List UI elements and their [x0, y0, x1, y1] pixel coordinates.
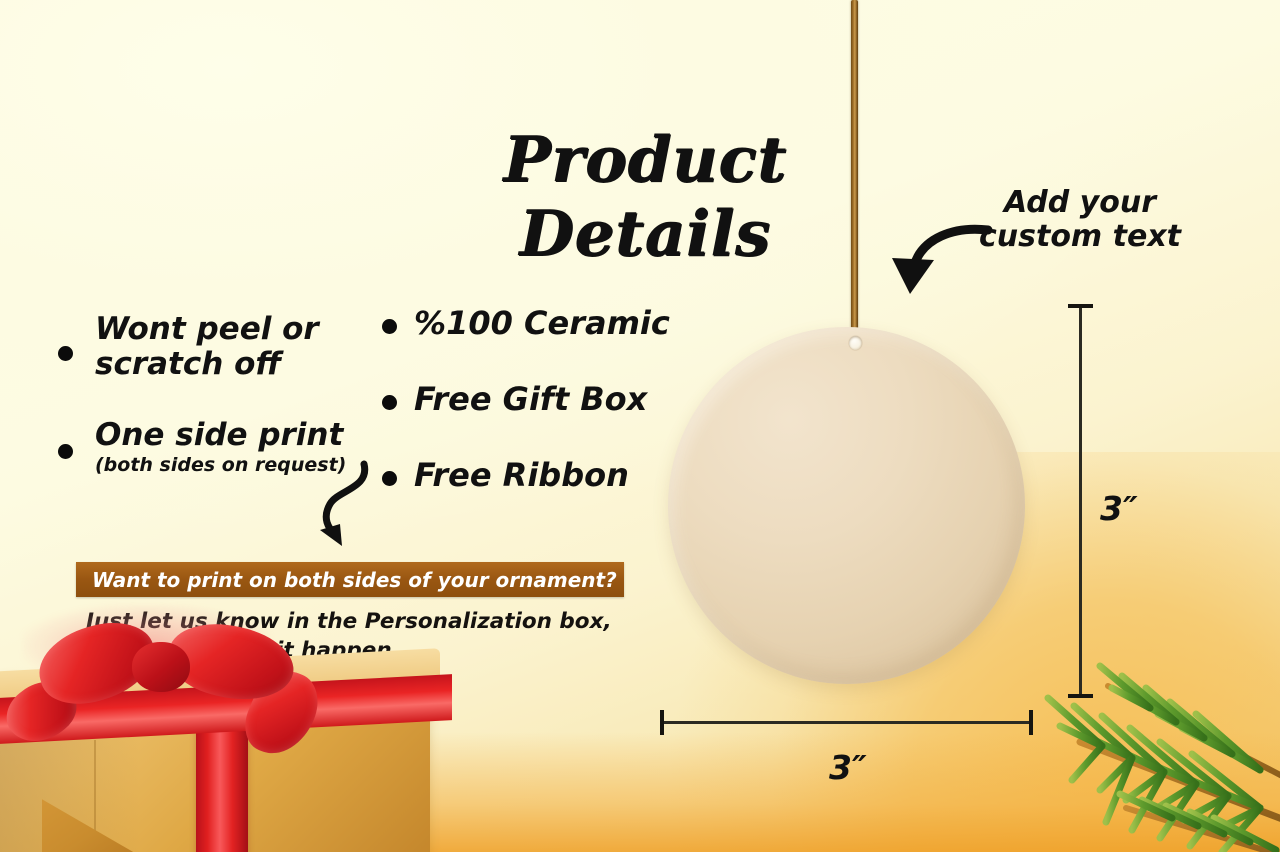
feature-item-right-1: %100 Ceramic	[382, 306, 670, 342]
banner-label: Want to print on both sides of your orna…	[76, 568, 617, 592]
feature-item-right-2: Free Gift Box	[382, 382, 647, 418]
banner-body-text: Just let us know in the Personalization …	[86, 608, 646, 665]
bullet-dot-icon	[382, 319, 397, 334]
ornament-cord	[851, 0, 858, 350]
gift-box-shading	[0, 680, 140, 852]
product-details-graphic: Product Details Wont peel or scratch off…	[0, 0, 1280, 852]
gift-box-seam	[94, 740, 96, 852]
feature-label: Free Gift Box	[414, 382, 647, 418]
gift-box-flap	[42, 768, 147, 852]
feature-label: %100 Ceramic	[414, 306, 670, 342]
width-dimension-label: 3″	[829, 748, 867, 787]
gift-ribbon-horizontal	[0, 674, 452, 744]
custom-text-annotation: Add your custom text	[970, 186, 1190, 254]
both-sides-banner: Want to print on both sides of your orna…	[76, 562, 624, 597]
feature-item-left-2: One side print (both sides on request)	[58, 418, 346, 476]
gift-ribbon-vertical	[196, 672, 248, 852]
gift-bow-tail-right	[236, 661, 328, 765]
feature-item-left-1: Wont peel or scratch off	[58, 312, 319, 381]
bullet-dot-icon	[382, 471, 397, 486]
background-bottom-glow	[0, 732, 1280, 852]
height-dimension-line	[1079, 304, 1082, 698]
feature-sub-note: (both sides on request)	[95, 454, 346, 476]
feature-label: Wont peel or scratch off	[95, 312, 319, 381]
ornament-hanging-hole	[849, 336, 862, 350]
height-dimension-label: 3″	[1100, 489, 1138, 528]
feature-item-right-3: Free Ribbon	[382, 458, 629, 494]
gift-bow-tail-left	[0, 668, 86, 755]
ceramic-ornament-disc	[668, 327, 1025, 684]
feature-label: Free Ribbon	[414, 458, 629, 494]
bullet-dot-icon	[382, 395, 397, 410]
width-dimension-line	[660, 721, 1033, 724]
height-dimension-cap-bottom	[1068, 694, 1093, 698]
bullet-dot-icon	[58, 346, 73, 361]
page-title: Product Details	[430, 122, 860, 270]
bullet-dot-icon	[58, 444, 73, 459]
width-dimension-cap-left	[660, 710, 664, 735]
pine-branch-image	[960, 622, 1280, 852]
gift-box-body	[0, 680, 430, 852]
height-dimension-cap-top	[1068, 304, 1093, 308]
feature-label: One side print	[95, 418, 346, 453]
width-dimension-cap-right	[1029, 710, 1033, 735]
